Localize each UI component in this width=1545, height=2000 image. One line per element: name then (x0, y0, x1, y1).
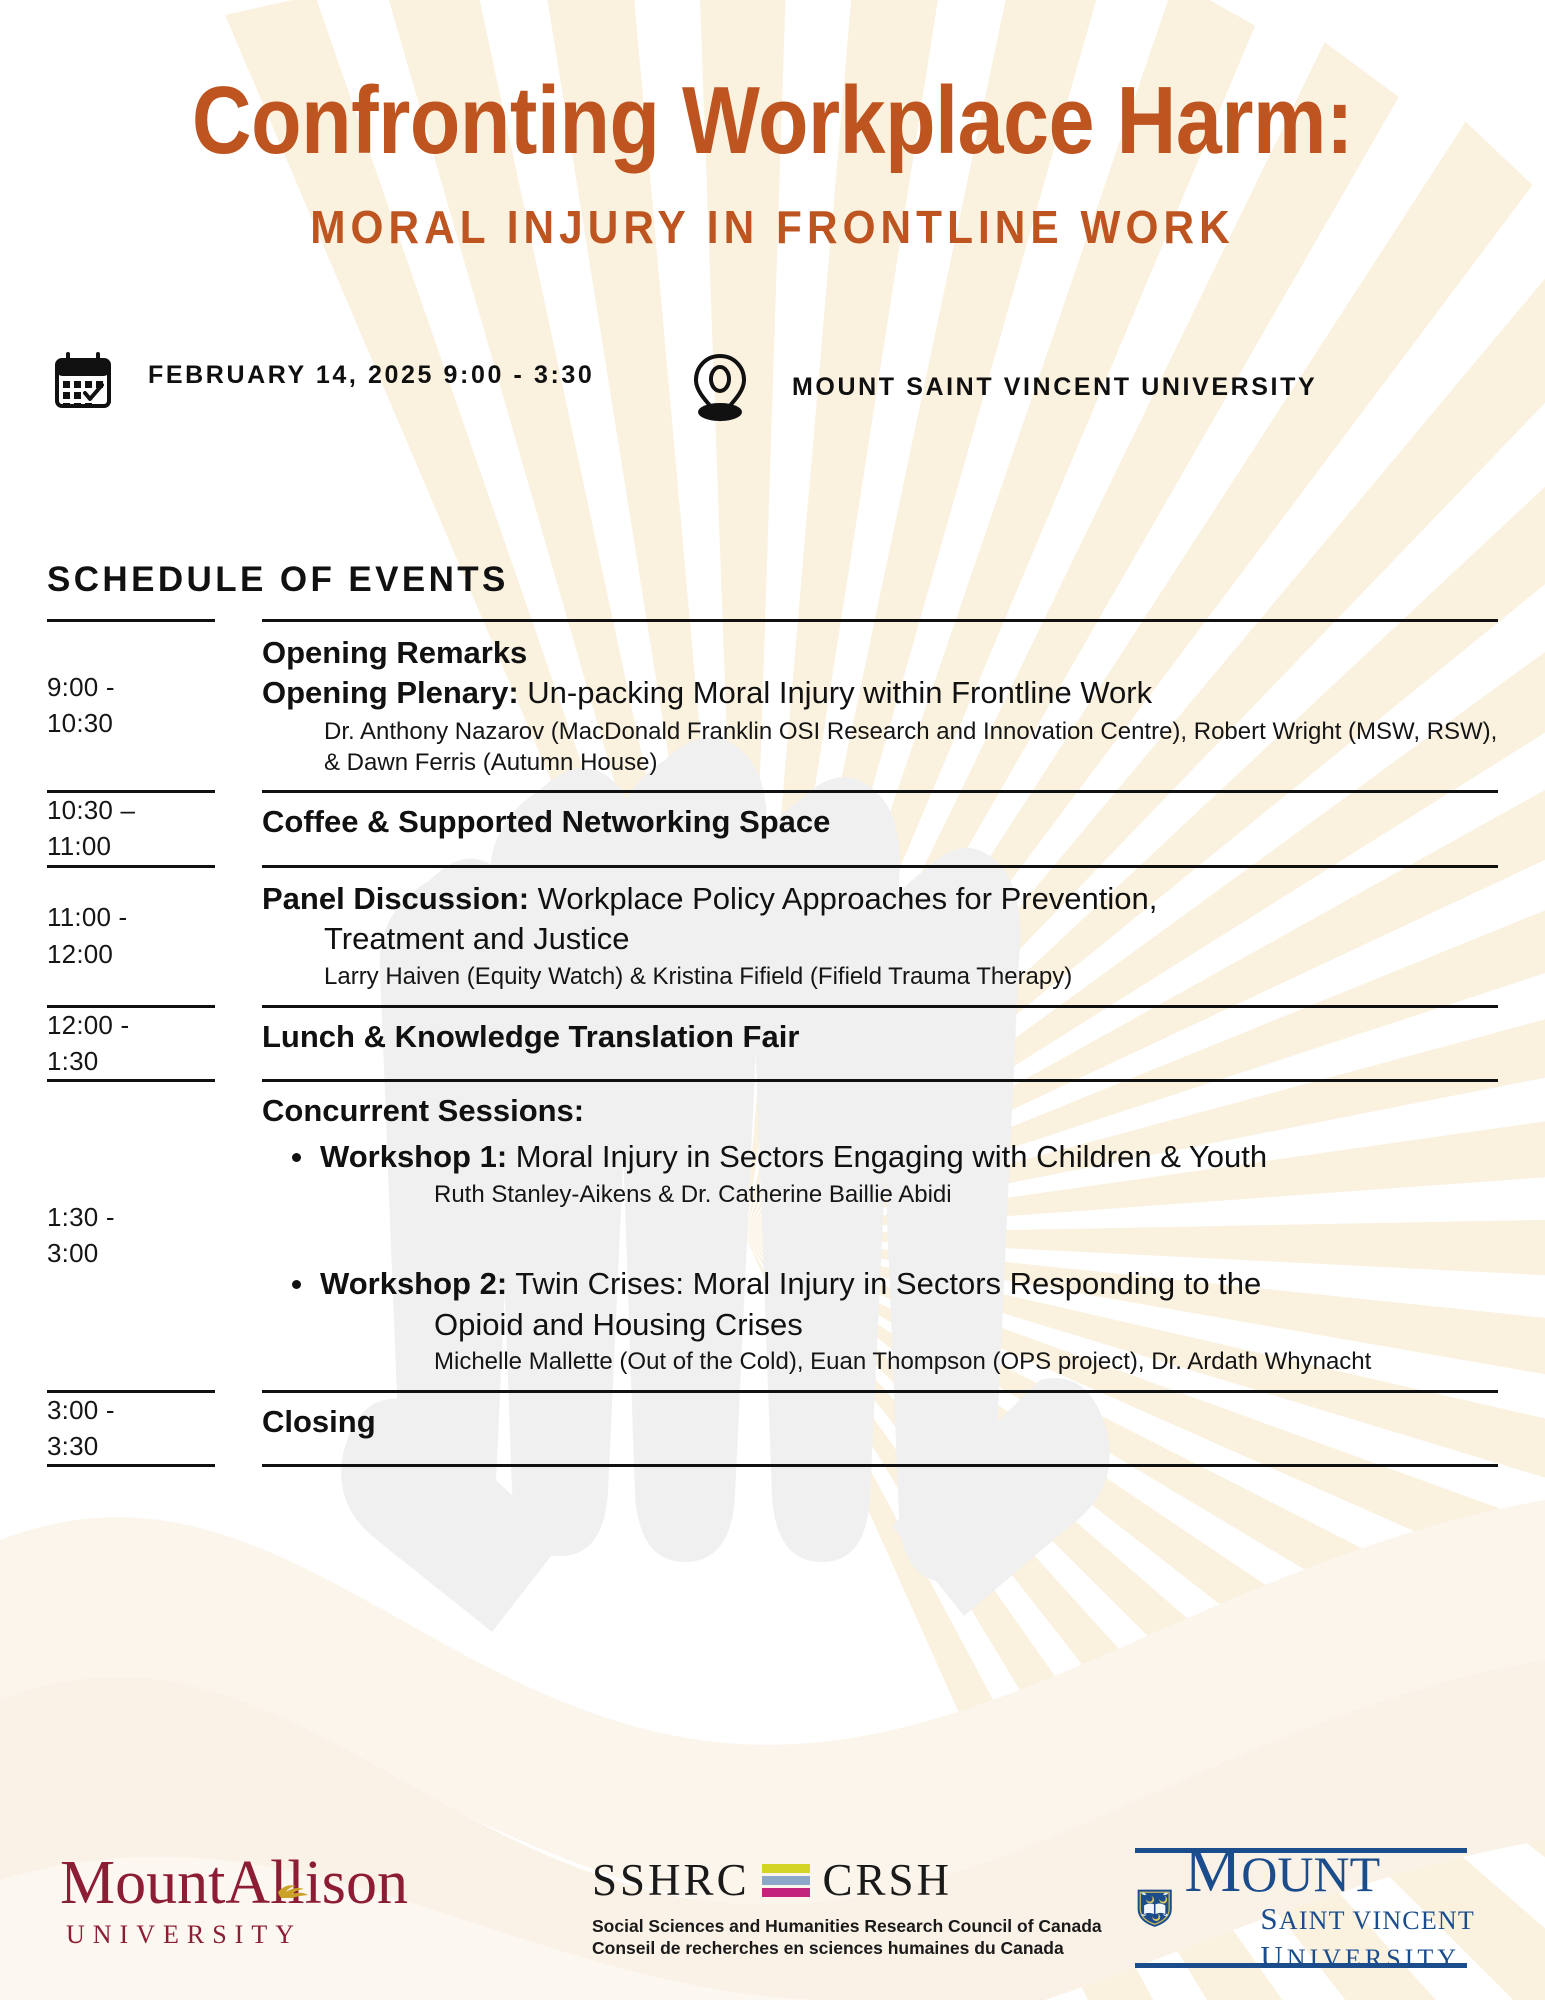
schedule-row-body: Concurrent Sessions:Workshop 1: Moral In… (262, 1079, 1498, 1389)
calendar-icon (52, 348, 114, 415)
event-date-text: FEBRUARY 14, 2025 9:00 - 3:30 (148, 348, 594, 394)
time-cell-rule (47, 1390, 215, 1393)
workshop-list-item: Workshop 2: Twin Crises: Moral Injury in… (262, 1264, 1498, 1377)
schedule-row-content-cell: Panel Discussion: Workplace Policy Appro… (215, 865, 1545, 1005)
location-pin-icon (690, 352, 750, 427)
schedule-event-continuation: Treatment and Justice (262, 919, 1498, 959)
schedule-row-time-cell: 1:30 - 3:00 (0, 1079, 215, 1389)
content-cell-rule (262, 1005, 1498, 1008)
event-date-block: FEBRUARY 14, 2025 9:00 - 3:30 (52, 348, 594, 415)
content-cell-rule (262, 865, 1498, 868)
schedule-row-time-cell: 10:30 – 11:00 (0, 790, 215, 865)
bullet-icon (292, 1280, 301, 1289)
workshop-title-line: Workshop 2: Twin Crises: Moral Injury in… (320, 1264, 1498, 1304)
sshrc-bars-icon (762, 1864, 811, 1897)
mount-saint-vincent-university-logo: MOUNT SAINT VINCENT UNIVERSITY (1135, 1848, 1475, 1968)
time-cell-rule (47, 790, 215, 793)
schedule-event-detail: Workplace Policy Approaches for Preventi… (529, 881, 1157, 916)
event-location-text: MOUNT SAINT VINCENT UNIVERSITY (792, 352, 1317, 406)
schedule-event-label: Panel Discussion: (262, 881, 529, 916)
msvu-line-mount: MOUNT (1184, 1841, 1475, 1899)
schedule-event-title: Lunch & Knowledge Translation Fair (262, 1019, 1498, 1055)
schedule-event-speakers: Larry Haiven (Equity Watch) & Kristina F… (262, 959, 1498, 992)
schedule-table: 9:00 - 10:30Opening RemarksOpening Plena… (0, 619, 1545, 1464)
time-cell-rule (47, 1005, 215, 1008)
time-cell-rule (47, 1464, 215, 1467)
schedule-event-detail: Un-packing Moral Injury within Frontline… (519, 675, 1152, 710)
workshop-spacer (262, 1210, 1498, 1256)
page-subtitle: MORAL INJURY IN FRONTLINE WORK (62, 200, 1483, 254)
schedule-row-body: Opening RemarksOpening Plenary: Un-packi… (262, 619, 1498, 790)
schedule-row: 3:00 - 3:30Closing (0, 1390, 1545, 1465)
sshrc-acronym-fr: CRSH (822, 1854, 952, 1906)
schedule-row-time-cell: 3:00 - 3:30 (0, 1390, 215, 1465)
schedule-row-content-cell: Concurrent Sessions:Workshop 1: Moral In… (215, 1079, 1545, 1389)
schedule-row-content-cell: Lunch & Knowledge Translation Fair (215, 1005, 1545, 1080)
schedule-heading: SCHEDULE OF EVENTS (47, 560, 509, 600)
sponsor-logos: MountAllison UNIVERSITY SSHRC CRSH Socia… (0, 1840, 1545, 2000)
schedule-event-line: Opening Remarks (262, 633, 1498, 673)
schedule-time-label: 1:30 - 3:00 (47, 1197, 115, 1272)
schedule-row-time-cell: 11:00 - 12:00 (0, 865, 215, 1005)
bullet-icon (292, 1153, 301, 1162)
workshop-list-item: Workshop 1: Moral Injury in Sectors Enga… (262, 1137, 1498, 1210)
event-location-block: MOUNT SAINT VINCENT UNIVERSITY (690, 352, 1317, 427)
workshop-label: Workshop 2: (320, 1266, 507, 1301)
schedule-time-label: 3:00 - 3:30 (47, 1390, 115, 1465)
schedule-row-content-cell: Coffee & Supported Networking Space (215, 790, 1545, 865)
schedule-row: 10:30 – 11:00Coffee & Supported Networki… (0, 790, 1545, 865)
schedule-row: 9:00 - 10:30Opening RemarksOpening Plena… (0, 619, 1545, 790)
content-cell-rule (262, 1390, 1498, 1393)
workshop-detail: Twin Crises: Moral Injury in Sectors Res… (507, 1266, 1261, 1301)
content-cell-rule (262, 790, 1498, 793)
schedule-row: 11:00 - 12:00Panel Discussion: Workplace… (0, 865, 1545, 1005)
content-cell-rule (262, 1464, 1498, 1467)
sshrc-name-en: Social Sciences and Humanities Research … (592, 1916, 952, 1937)
schedule-event-title: Coffee & Supported Networking Space (262, 804, 1498, 840)
schedule-event-title: Concurrent Sessions: (262, 1093, 1498, 1129)
time-cell-rule (47, 1079, 215, 1082)
schedule-event-line: Opening Plenary: Un-packing Moral Injury… (262, 673, 1498, 713)
schedule-event-title: Closing (262, 1404, 1498, 1440)
mount-allison-wordmark: MountAllison (60, 1852, 408, 1914)
workshop-speakers: Ruth Stanley-Aikens & Dr. Catherine Bail… (320, 1178, 1498, 1211)
schedule-event-label: Opening Remarks (262, 635, 527, 670)
schedule-time-label: 10:30 – 11:00 (47, 790, 135, 865)
time-cell-rule (47, 619, 215, 622)
schedule-row: 1:30 - 3:00Concurrent Sessions:Workshop … (0, 1079, 1545, 1389)
workshop-continuation: Opioid and Housing Crises (320, 1305, 1498, 1345)
msvu-line-university: UNIVERSITY (1260, 1939, 1475, 1975)
schedule-time-label: 11:00 - 12:00 (47, 897, 127, 972)
sshrc-acronym-en: SSHRC (592, 1854, 750, 1906)
schedule-row: 12:00 - 1:30Lunch & Knowledge Translatio… (0, 1005, 1545, 1080)
schedule-event-label: Opening Plenary: (262, 675, 519, 710)
schedule-row-body: Coffee & Supported Networking Space (262, 790, 1498, 852)
content-cell-rule (262, 1079, 1498, 1082)
workshop-speakers: Michelle Mallette (Out of the Cold), Eua… (320, 1345, 1498, 1378)
schedule-row-content-cell: Closing (215, 1390, 1545, 1465)
workshop-title-line: Workshop 1: Moral Injury in Sectors Enga… (320, 1137, 1498, 1177)
schedule-event-line: Panel Discussion: Workplace Policy Appro… (262, 879, 1498, 919)
schedule-row-content-cell: Opening RemarksOpening Plenary: Un-packi… (215, 619, 1545, 790)
schedule-row-time-cell: 12:00 - 1:30 (0, 1005, 215, 1080)
schedule-time-label: 9:00 - 10:30 (47, 667, 115, 742)
msvu-shield-crest-icon (1135, 1862, 1174, 1954)
schedule-row-body: Closing (262, 1390, 1498, 1452)
event-meta-row: FEBRUARY 14, 2025 9:00 - 3:30 MOUNT SAIN… (0, 340, 1545, 450)
sshrc-crsh-logo: SSHRC CRSH Social Sciences and Humanitie… (592, 1854, 952, 1959)
mount-allison-university-logo: MountAllison UNIVERSITY (60, 1852, 408, 1950)
schedule-row-body: Panel Discussion: Workplace Policy Appro… (262, 865, 1498, 1005)
workshop-label: Workshop 1: (320, 1139, 507, 1174)
workshop-detail: Moral Injury in Sectors Engaging with Ch… (507, 1139, 1267, 1174)
schedule-event-speakers: Dr. Anthony Nazarov (MacDonald Franklin … (262, 714, 1498, 778)
sshrc-name-fr: Conseil de recherches en sciences humain… (592, 1938, 952, 1959)
schedule-row-body: Lunch & Knowledge Translation Fair (262, 1005, 1498, 1067)
workshop-list: Workshop 1: Moral Injury in Sectors Enga… (262, 1137, 1498, 1377)
msvu-line-saint-vincent: SAINT VINCENT (1260, 1901, 1475, 1937)
content-cell-rule (262, 619, 1498, 622)
schedule-row-time-cell: 9:00 - 10:30 (0, 619, 215, 790)
time-cell-rule (47, 865, 215, 868)
schedule-time-label: 12:00 - 1:30 (47, 1005, 129, 1080)
page-title: Confronting Workplace Harm: (108, 72, 1437, 170)
mount-allison-university-word: UNIVERSITY (60, 1920, 408, 1950)
mount-allison-wing-icon (276, 1882, 316, 1898)
